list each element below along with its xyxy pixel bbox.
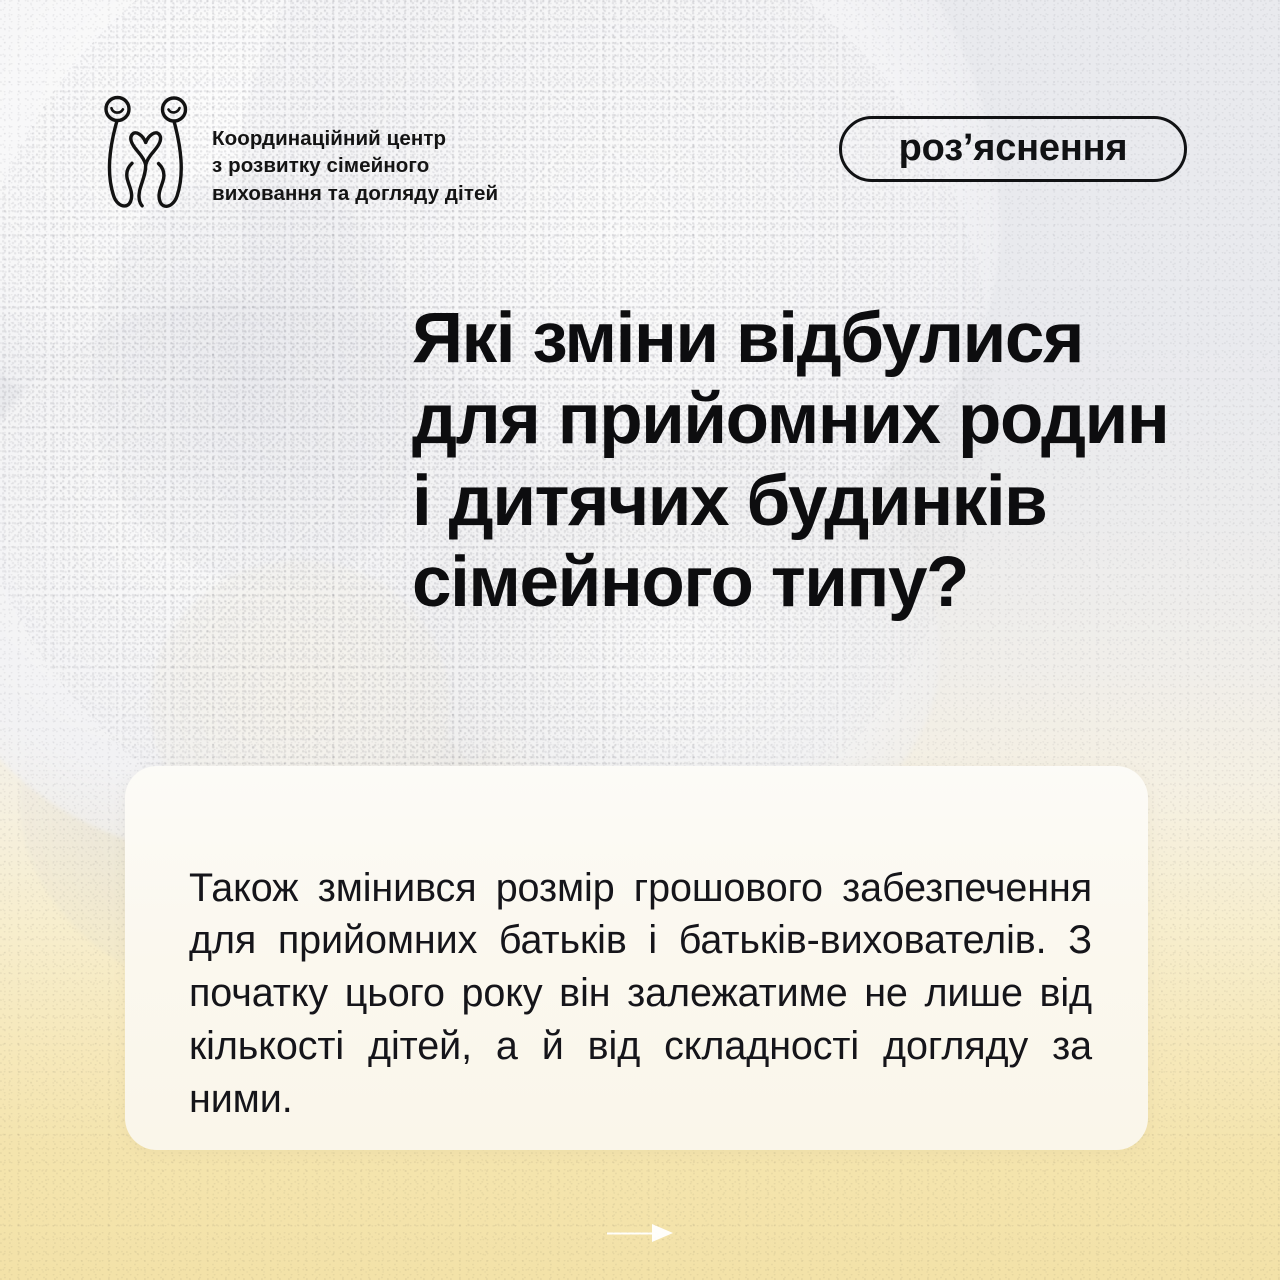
- two-figures-heart-logo-icon: [98, 95, 194, 213]
- clarification-badge-label: роз’яснення: [899, 129, 1128, 167]
- arrow-right-icon[interactable]: [605, 1216, 675, 1250]
- clarification-badge: роз’яснення: [839, 116, 1187, 182]
- slide-canvas: Координаційний центр з розвитку сімейног…: [0, 0, 1280, 1280]
- header: Координаційний центр з розвитку сімейног…: [0, 95, 1280, 215]
- page-title: Які зміни відбулися для прийомних родин …: [412, 298, 1192, 625]
- body-card: Також змінився розмір грошового забезпеч…: [125, 766, 1148, 1150]
- body-paragraph: Також змінився розмір грошового забезпеч…: [189, 862, 1092, 1127]
- brand-lockup: Координаційний центр з розвитку сімейног…: [98, 95, 498, 213]
- brand-name: Координаційний центр з розвитку сімейног…: [212, 125, 498, 207]
